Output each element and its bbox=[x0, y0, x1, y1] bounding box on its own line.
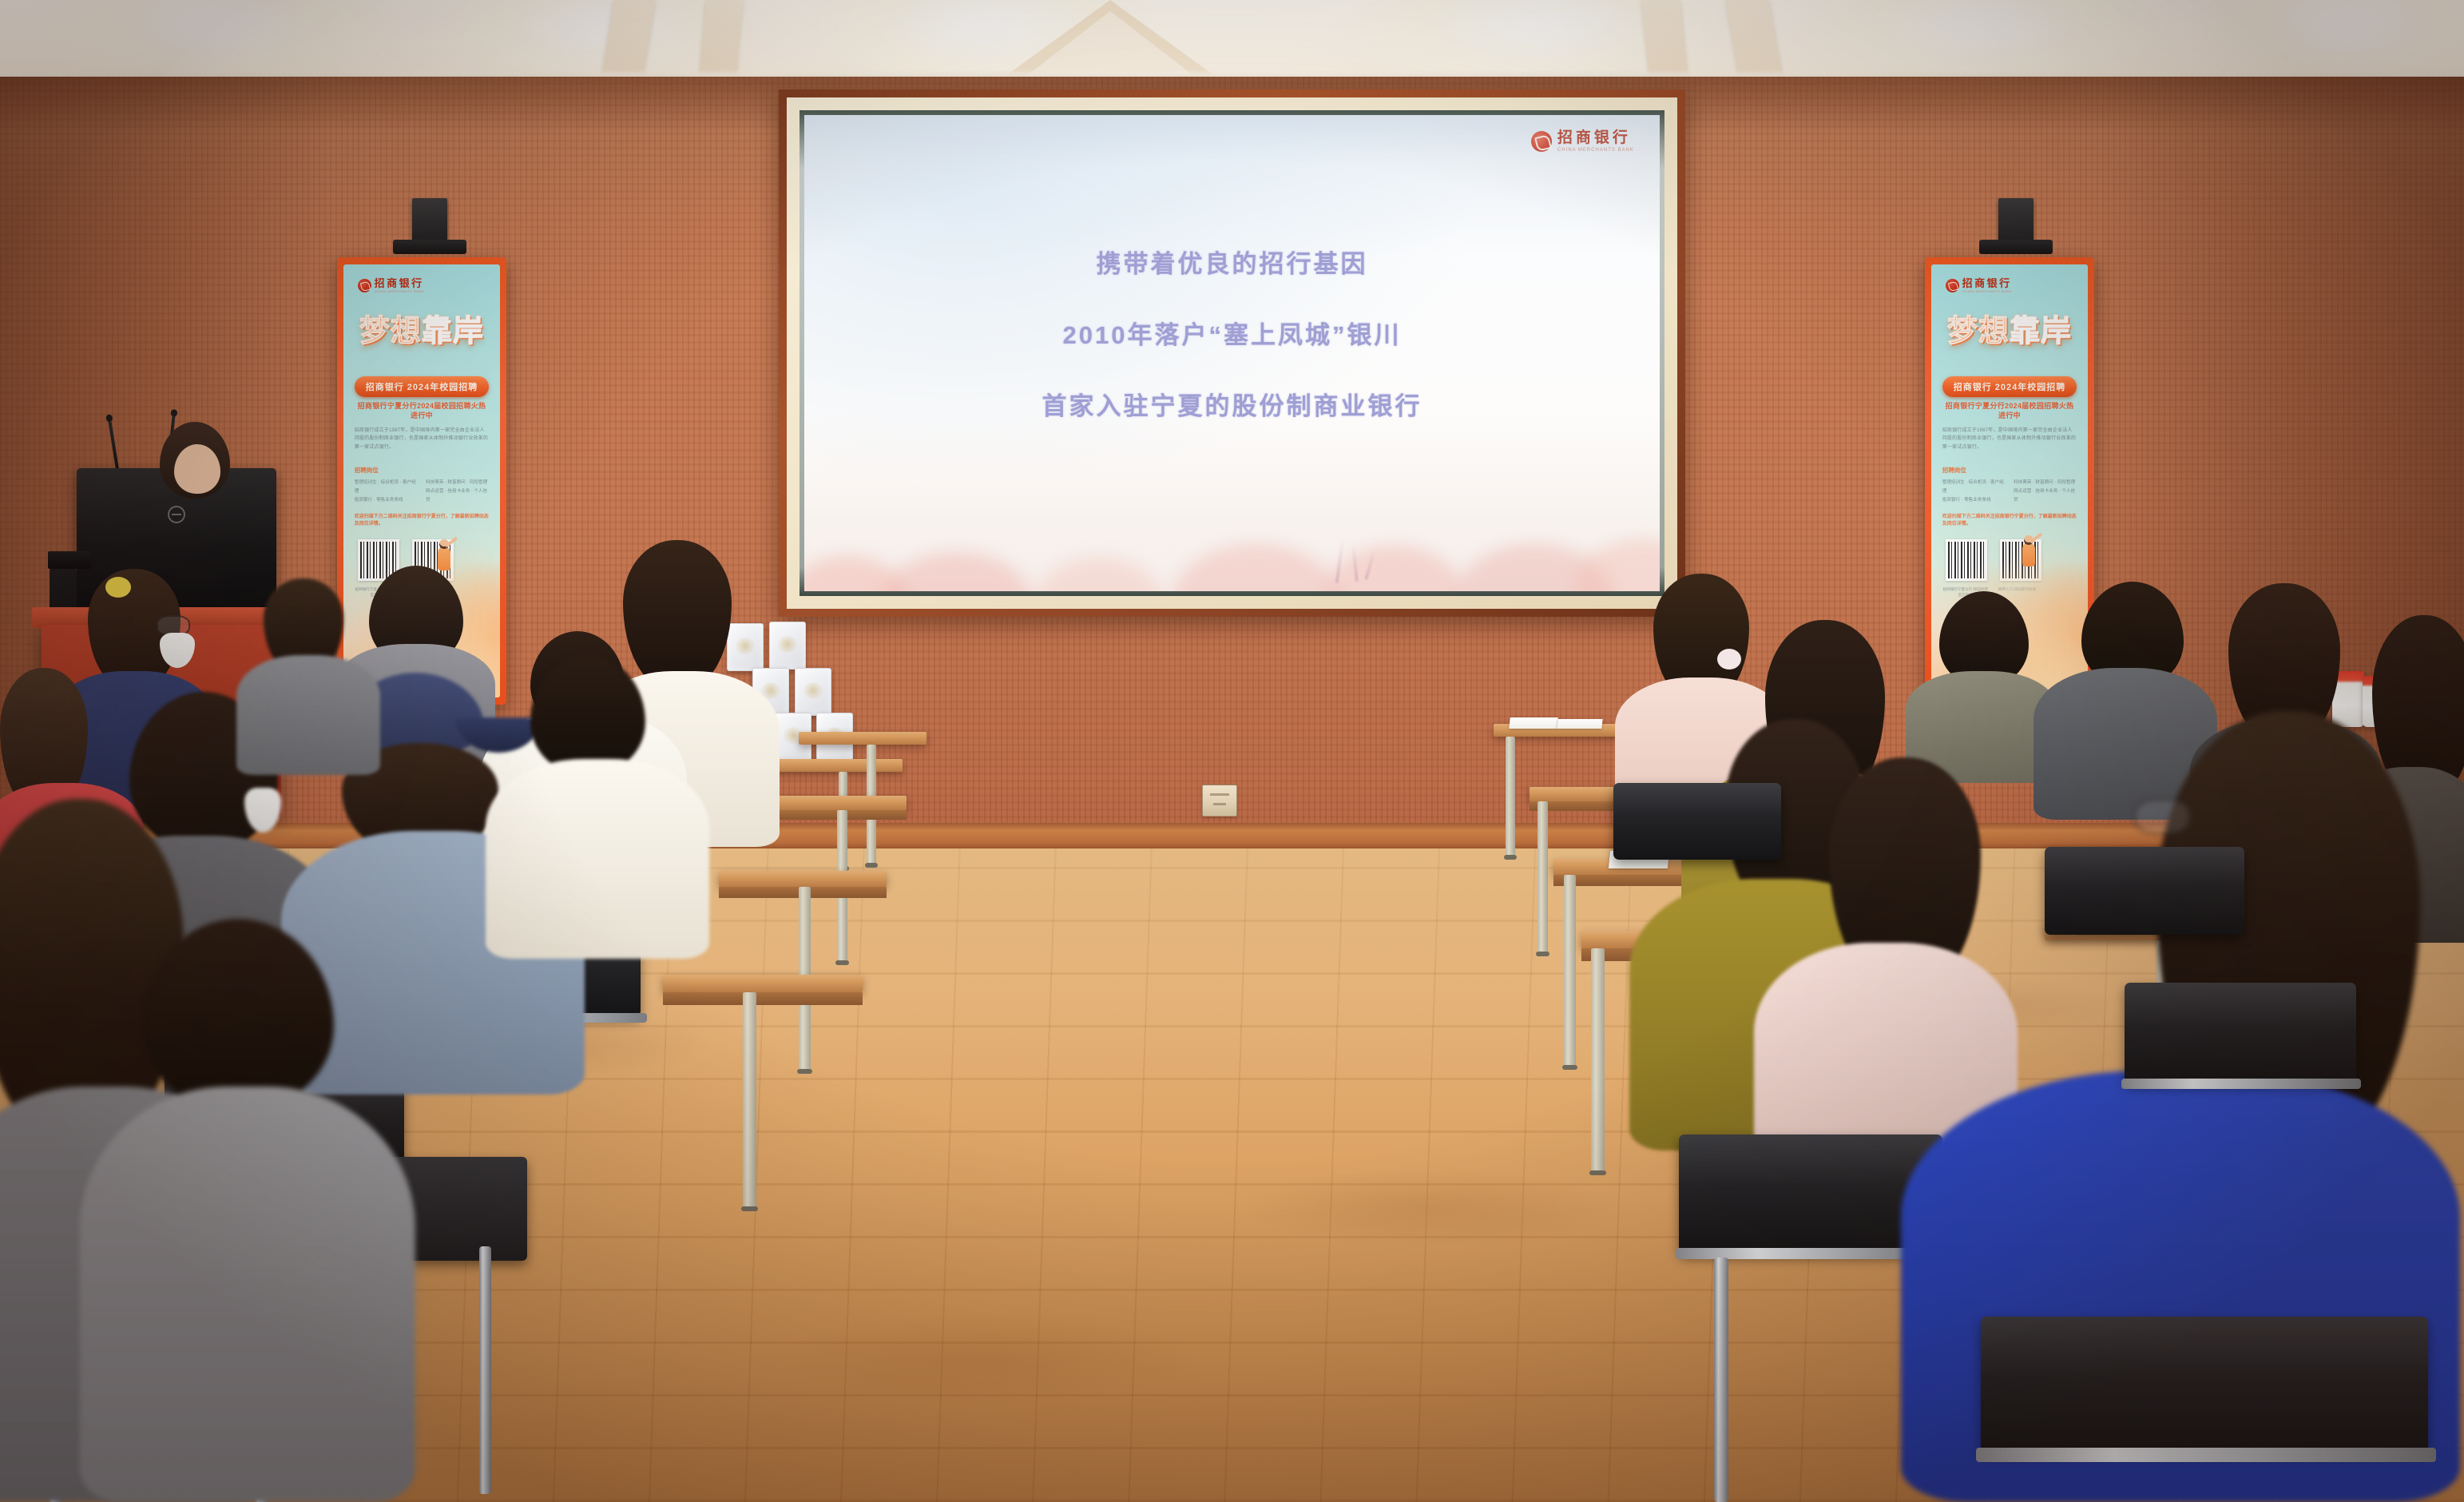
desk-leg bbox=[1564, 875, 1576, 1067]
banner-subheading-left: 招商银行宁夏分行2024届校园招聘火热进行中 bbox=[355, 401, 490, 420]
chair-leg bbox=[1714, 1258, 1728, 1502]
desk-leg bbox=[1506, 737, 1515, 856]
person-body bbox=[80, 1087, 415, 1502]
desk-top bbox=[763, 796, 907, 810]
speaker-mount-right bbox=[1979, 240, 2053, 254]
banner-brand-logo-right: 招商银行 CHINA MERCHANTS BANK bbox=[1946, 278, 2013, 293]
slide-cloud-graphics bbox=[804, 448, 1660, 591]
chair-frame bbox=[2121, 1079, 2361, 1089]
cmb-logo-icon bbox=[1946, 279, 1959, 292]
speaker-box-right bbox=[1998, 198, 2033, 246]
cmb-logo-icon bbox=[1531, 131, 1552, 152]
desk-top bbox=[663, 975, 863, 992]
desk-leg bbox=[1591, 948, 1605, 1172]
presenter-face bbox=[174, 444, 220, 494]
banner-headline-right: 梦想靠岸 bbox=[1931, 319, 2088, 345]
ceiling-beam-left-2 bbox=[700, 0, 743, 74]
chair-back[interactable] bbox=[1981, 1317, 2428, 1452]
banner-figure-right bbox=[2022, 542, 2035, 566]
slide-line-3: 首家入驻宁夏的股份制商业银行 bbox=[1042, 386, 1422, 422]
banner-subheading-right: 招商银行宁夏分行2024届校园招聘火热进行中 bbox=[1942, 401, 2077, 420]
banner-pill-left: 招商银行 2024年校园招聘 bbox=[355, 376, 490, 397]
banner-section-label-left: 招聘岗位 bbox=[355, 466, 379, 475]
desk-top bbox=[719, 871, 887, 887]
banner-brand-english: CHINA MERCHANTS BANK bbox=[375, 290, 425, 293]
wall-power-socket[interactable] bbox=[1202, 785, 1237, 817]
paper-sheet bbox=[1557, 719, 1602, 729]
slide-surface: 招商银行 CHINA MERCHANTS BANK 携带着优良的招行基因 201… bbox=[804, 115, 1660, 591]
slide-line-1: 携带着优良的招行基因 bbox=[1097, 244, 1368, 280]
person-body bbox=[236, 655, 380, 775]
hair-clip bbox=[1717, 649, 1741, 670]
monitor-stand bbox=[48, 551, 91, 569]
chair-back[interactable] bbox=[2125, 983, 2356, 1083]
lecture-hall-scene: 招商银行 CHINA MERCHANTS BANK 携带着优良的招行基因 201… bbox=[0, 0, 2464, 1502]
slide-line-2: 2010年落户“塞上凤城”银川 bbox=[1063, 315, 1402, 351]
speaker-box-left bbox=[412, 198, 447, 246]
dell-logo-icon bbox=[168, 506, 185, 523]
screen-mat: 招商银行 CHINA MERCHANTS BANK 携带着优良的招行基因 201… bbox=[787, 97, 1677, 609]
banner-headline-part2: 靠岸 bbox=[422, 315, 484, 348]
hair-tie bbox=[105, 577, 131, 598]
chair-back[interactable] bbox=[2045, 847, 2244, 935]
banner-brand-name: 招商银行 bbox=[375, 278, 425, 288]
banner-paragraph-left: 招商银行成立于1987年，是中国境内第一家完全由企业法人持股的股份制商业银行，也… bbox=[355, 427, 490, 451]
projection-screen: 招商银行 CHINA MERCHANTS BANK 携带着优良的招行基因 201… bbox=[779, 89, 1685, 617]
banner-headline-left: 梦想靠岸 bbox=[343, 319, 500, 345]
screen-bezel: 招商银行 CHINA MERCHANTS BANK 携带着优良的招行基因 201… bbox=[800, 110, 1664, 596]
desk-front bbox=[663, 992, 863, 1005]
banner-pill-right: 招商银行 2024年校园招聘 bbox=[1942, 376, 2077, 397]
person-hair bbox=[623, 540, 732, 689]
gift-box bbox=[769, 622, 806, 670]
banner-section-label-right: 招聘岗位 bbox=[1942, 466, 1966, 475]
cmb-logo-icon bbox=[358, 279, 371, 292]
slide-brand-english: CHINA MERCHANTS BANK bbox=[1557, 148, 1634, 153]
gift-box bbox=[727, 623, 764, 671]
ceiling-beam-right bbox=[1641, 0, 1688, 77]
chair-leg bbox=[479, 1246, 491, 1494]
slide-brand-name: 招商银行 bbox=[1557, 130, 1634, 145]
desk-front bbox=[763, 810, 907, 820]
chair-back[interactable] bbox=[1613, 783, 1781, 860]
banner-figure-left bbox=[438, 546, 450, 570]
banner-paragraph-right: 招商银行成立于1987年，是中国境内第一家完全由企业法人持股的股份制商业银行，也… bbox=[1942, 427, 2077, 451]
gift-box bbox=[795, 668, 831, 716]
banner-brand-logo-left: 招商银行 CHINA MERCHANTS BANK bbox=[358, 278, 425, 293]
banner-headline-part1: 梦想 bbox=[359, 315, 422, 348]
slide-brand-logo: 招商银行 CHINA MERCHANTS BANK bbox=[1531, 130, 1634, 153]
slide-text-block: 携带着优良的招行基因 2010年落户“塞上凤城”银川 首家入驻宁夏的股份制商业银… bbox=[804, 244, 1660, 422]
desk-leg bbox=[743, 992, 756, 1208]
desk-leg bbox=[1538, 801, 1548, 953]
chair-frame bbox=[1976, 1448, 2436, 1462]
banner-brand-english: CHINA MERCHANTS BANK bbox=[1962, 290, 2013, 293]
glasses-icon bbox=[2134, 799, 2190, 834]
desk-top bbox=[799, 732, 926, 745]
speaker-mount-left bbox=[393, 240, 466, 254]
person-body bbox=[486, 759, 709, 959]
paper-sheet bbox=[1509, 717, 1557, 729]
banner-brand-name: 招商银行 bbox=[1962, 278, 2013, 288]
